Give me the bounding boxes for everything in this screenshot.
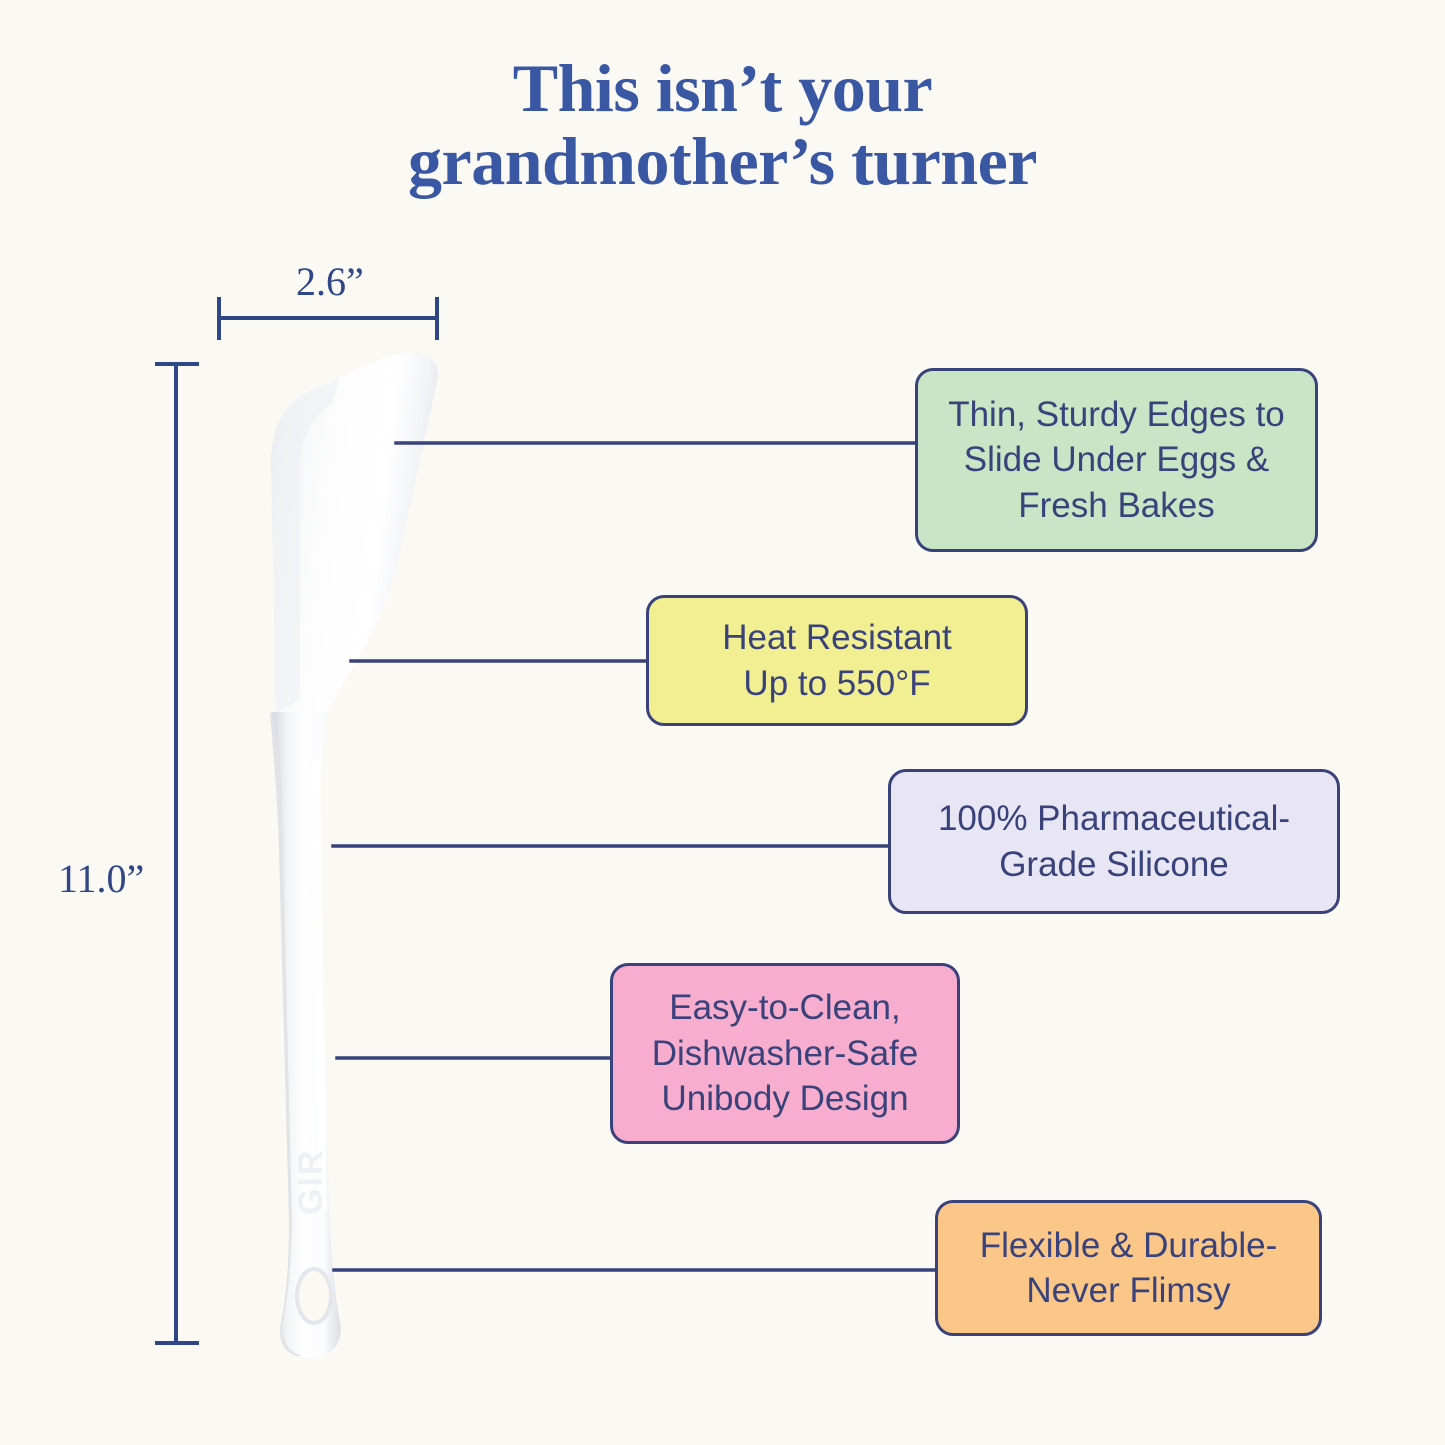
- spatula-body: GIR: [270, 353, 438, 1358]
- svg-text:GIR: GIR: [292, 1149, 330, 1215]
- infographic-canvas: This isn’t your grandmother’s turner: [0, 0, 1445, 1445]
- leader-lines: [333, 443, 936, 1270]
- callout-thin-sturdy-edges: Thin, Sturdy Edges to Slide Under Eggs &…: [915, 368, 1318, 552]
- callout-pharmaceutical-grade-silicone: 100% Pharmaceutical- Grade Silicone: [888, 769, 1340, 914]
- callout-heat-resistant: Heat Resistant Up to 550°F: [646, 595, 1028, 726]
- gir-logo-emboss: GIR: [292, 1149, 330, 1215]
- height-dimension-label: 11.0”: [58, 855, 144, 902]
- callout-flexible-durable: Flexible & Durable- Never Flimsy: [935, 1200, 1322, 1336]
- callout-easy-to-clean: Easy-to-Clean, Dishwasher-Safe Unibody D…: [610, 963, 960, 1144]
- height-dimension: [155, 363, 199, 1344]
- width-dimension-label: 2.6”: [296, 258, 364, 305]
